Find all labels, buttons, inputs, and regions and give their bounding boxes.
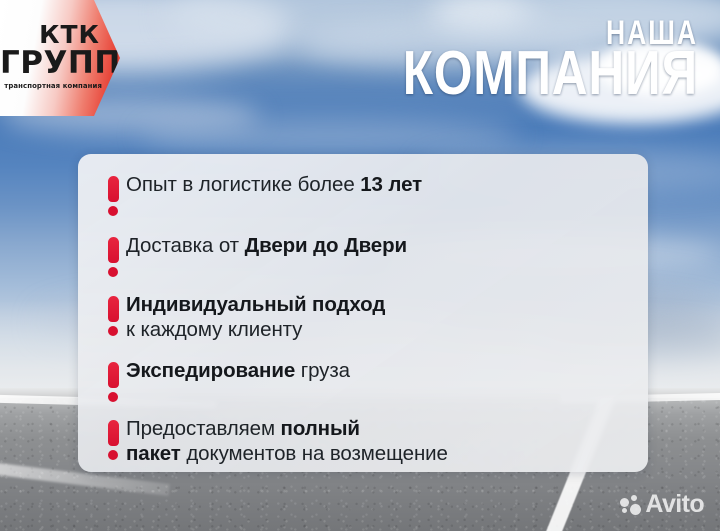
page-title-line2: КОМПАНИЯ bbox=[403, 45, 698, 102]
exclamation-mark-icon bbox=[100, 176, 126, 216]
avito-dots-icon bbox=[620, 495, 642, 515]
list-item-text: Предоставляем полный пакет документов на… bbox=[126, 416, 648, 466]
text-plain: к каждому клиенту bbox=[126, 317, 648, 342]
text-plain: Опыт в логистике более bbox=[126, 173, 360, 196]
avito-wordmark: Avito bbox=[645, 492, 704, 517]
list-item-text: Индивидуальный подход к каждому клиенту bbox=[126, 292, 648, 342]
logo-name-ktk: КТК bbox=[0, 22, 100, 47]
text-plain: документов на возмещение bbox=[181, 442, 448, 465]
features-panel: Опыт в логистике более 13 лет Доставка о… bbox=[78, 154, 648, 472]
list-item: Предоставляем полный пакет документов на… bbox=[78, 416, 648, 466]
text-bold: 13 лет bbox=[360, 173, 422, 196]
cloud bbox=[140, 118, 520, 152]
text-bold: пакет bbox=[126, 442, 181, 465]
list-item: Доставка от Двери до Двери bbox=[78, 233, 648, 277]
promo-banner: КТК ГРУПП транспортная компания НАША КОМ… bbox=[0, 0, 720, 531]
list-item: Экспедирование груза bbox=[78, 358, 648, 402]
list-item: Опыт в логистике более 13 лет bbox=[78, 172, 648, 216]
logo-name-grupp: ГРУПП bbox=[0, 48, 100, 79]
text-bold: Экспедирование bbox=[126, 359, 295, 382]
text-bold: Индивидуальный подход bbox=[126, 293, 385, 316]
list-item-text: Опыт в логистике более 13 лет bbox=[126, 172, 648, 197]
exclamation-mark-icon bbox=[100, 296, 126, 336]
avito-watermark: Avito bbox=[620, 492, 704, 517]
logo-subtitle: транспортная компания bbox=[4, 82, 102, 89]
text-plain: Доставка от bbox=[126, 234, 245, 257]
text-plain: Предоставляем bbox=[126, 417, 281, 440]
text-bold: Двери до Двери bbox=[245, 234, 407, 257]
text-plain: груза bbox=[295, 359, 350, 382]
list-item-text: Экспедирование груза bbox=[126, 358, 648, 383]
exclamation-mark-icon bbox=[100, 420, 126, 460]
page-title: НАША КОМПАНИЯ bbox=[329, 18, 698, 102]
exclamation-mark-icon bbox=[100, 237, 126, 277]
text-bold: полный bbox=[281, 417, 360, 440]
exclamation-mark-icon bbox=[100, 362, 126, 402]
list-item-text: Доставка от Двери до Двери bbox=[126, 233, 648, 258]
features-list: Опыт в логистике более 13 лет Доставка о… bbox=[78, 154, 648, 472]
list-item: Индивидуальный подход к каждому клиенту bbox=[78, 292, 648, 342]
